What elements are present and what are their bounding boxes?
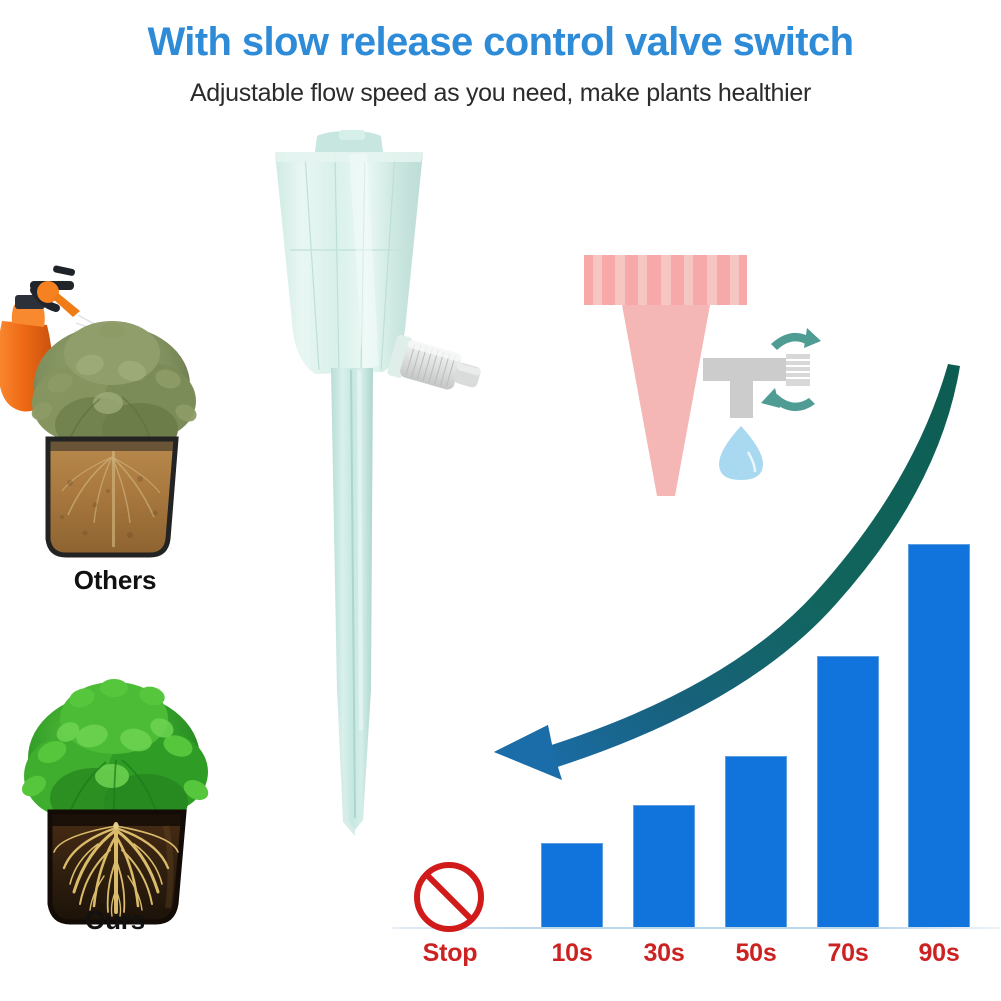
tick-label-10s: 10s — [526, 939, 618, 968]
flow-rate-bar-chart: Stop 10s 30s 50s 70s 90s — [0, 0, 1001, 1001]
bar-10s — [541, 843, 603, 928]
bar-50s — [725, 756, 787, 928]
infographic-canvas: With slow release control valve switch A… — [0, 0, 1001, 1001]
bar-90s — [908, 544, 970, 928]
tick-label-stop: Stop — [404, 939, 496, 968]
tick-label-50s: 50s — [710, 939, 802, 968]
no-entry-icon — [412, 860, 486, 934]
decreasing-flow-arrow — [470, 350, 970, 780]
bar-70s — [817, 656, 879, 928]
tick-label-90s: 90s — [893, 939, 985, 968]
tick-label-70s: 70s — [802, 939, 894, 968]
tick-label-30s: 30s — [618, 939, 710, 968]
bar-30s — [633, 805, 695, 928]
